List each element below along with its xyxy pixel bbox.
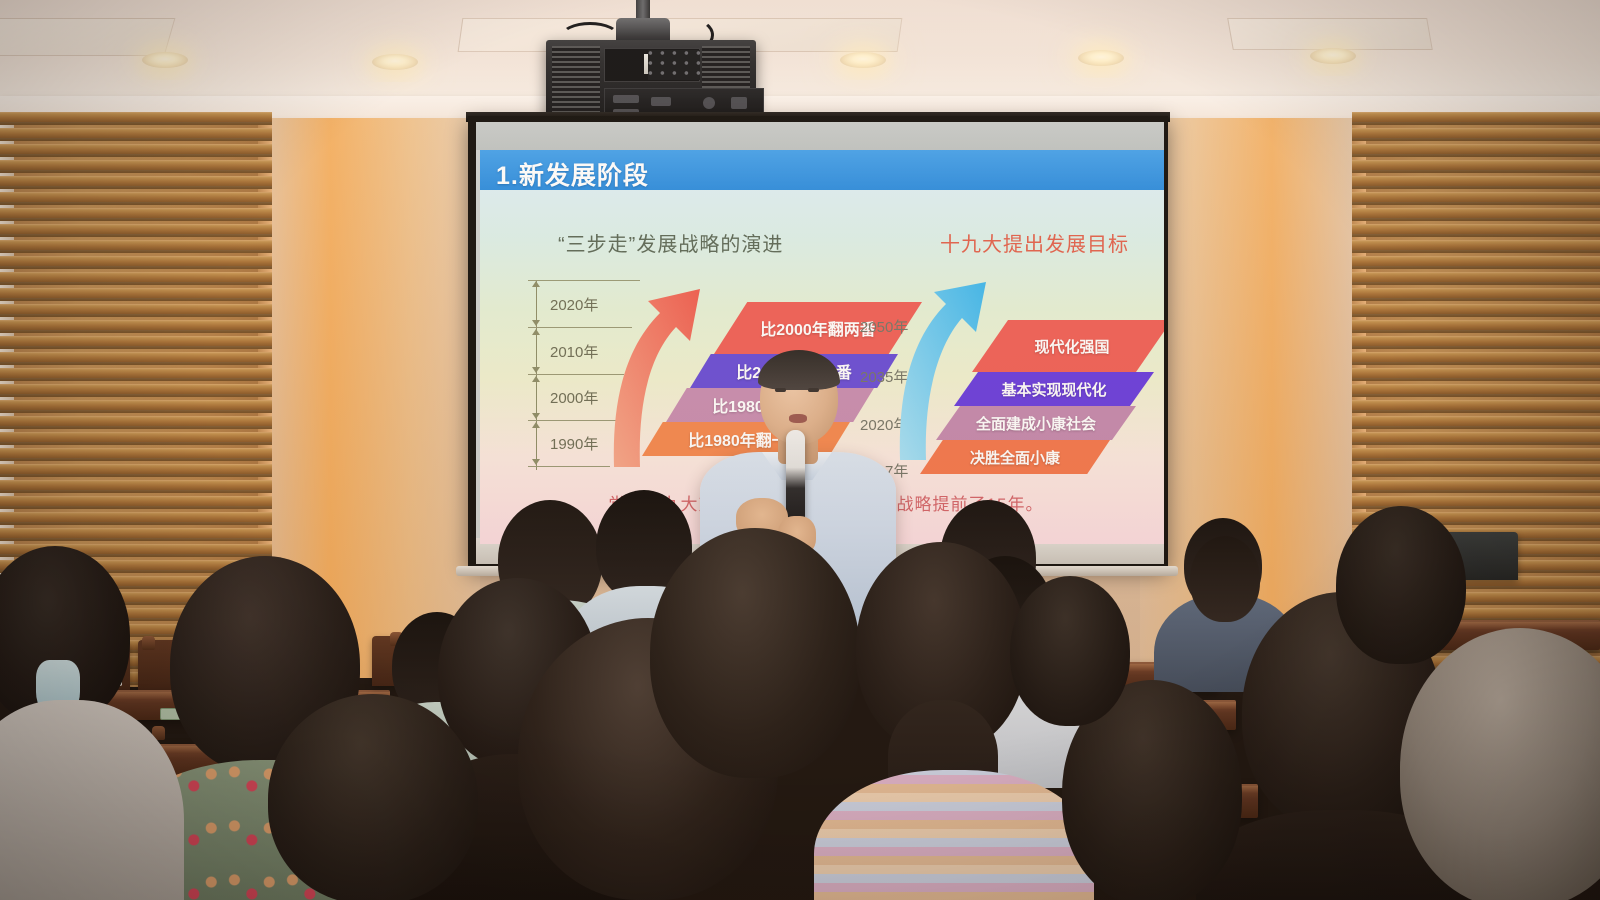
wood-slat (0, 512, 272, 525)
ceiling-downlight (1310, 48, 1356, 64)
slide-goal-block: 现代化强国 (972, 320, 1164, 372)
axis-arrow-up (532, 329, 540, 335)
wood-slat (0, 144, 272, 157)
wood-slat (0, 432, 272, 445)
wood-slat (0, 224, 272, 237)
wood-slat (1352, 240, 1600, 253)
audience-head (1010, 576, 1130, 726)
slide-right-section-title: 十九大提出发展目标 (940, 228, 1129, 257)
wood-slat (0, 304, 272, 317)
axis-year-label: 2020年 (550, 294, 598, 315)
axis-tick (528, 466, 610, 467)
wood-slat (1352, 272, 1600, 285)
wood-slat (0, 160, 272, 173)
wood-slat (1352, 160, 1600, 173)
axis-arrow-down (532, 320, 540, 326)
wood-slat (0, 208, 272, 221)
axis-arrow-down (532, 367, 540, 373)
wood-slat (0, 384, 272, 397)
projector-buttons[interactable] (648, 50, 700, 80)
slide-goal-block: 决胜全面小康 (920, 440, 1110, 474)
axis-arrow-down (532, 459, 540, 465)
wood-slat (1352, 448, 1600, 461)
lecture-hall-scene: 1.新发展阶段 “三步走”发展战略的演进 十九大提出发展目标 (0, 0, 1600, 900)
screen-blank-top (476, 122, 1164, 150)
wood-slat (1352, 304, 1600, 317)
wood-slat (1352, 112, 1600, 125)
wood-slat (0, 496, 272, 509)
audience-head (1336, 506, 1466, 664)
wood-slat (0, 128, 272, 141)
axis-arrow-down (532, 413, 540, 419)
audience-head (268, 694, 478, 900)
slide-left-section-title: “三步走”发展战略的演进 (558, 228, 783, 257)
wood-slat (0, 192, 272, 205)
audience-shoulders-knit (814, 770, 1094, 900)
lan-port[interactable] (731, 97, 747, 109)
axis-arrow-up (532, 281, 540, 287)
wood-slat (0, 368, 272, 381)
wood-slat (1352, 416, 1600, 429)
axis-tick (528, 280, 640, 281)
axis-year-label: 1990年 (550, 433, 598, 454)
axis-arrow-up (532, 376, 540, 382)
wood-slat (1352, 352, 1600, 365)
speaker-mouth (789, 414, 807, 423)
wood-slat (1352, 384, 1600, 397)
wood-slat (0, 336, 272, 349)
wood-slat (0, 528, 272, 541)
wood-slat (0, 288, 272, 301)
wood-slat (1352, 320, 1600, 333)
wood-slat (0, 480, 272, 493)
wood-slat (1352, 464, 1600, 477)
ceiling-downlight (142, 52, 188, 68)
wood-slat (1352, 432, 1600, 445)
wood-slat (1352, 224, 1600, 237)
wood-slat (1352, 480, 1600, 493)
goal-label: 全面建成小康社会 (976, 413, 1096, 434)
slide-title: 1.新发展阶段 (496, 156, 649, 192)
wood-slat (1352, 400, 1600, 413)
wood-slat (1352, 368, 1600, 381)
step-label: 比2000年翻两番 (760, 316, 876, 340)
wood-slat (1352, 208, 1600, 221)
wood-slat (0, 400, 272, 413)
axis-year-label: 2010年 (550, 341, 598, 362)
audience-head (1190, 536, 1260, 622)
wood-slat (1352, 256, 1600, 269)
audience-head (650, 528, 860, 778)
wood-slat (0, 464, 272, 477)
ceiling-downlight (1078, 50, 1124, 66)
hdmi-port[interactable] (651, 97, 671, 106)
ceiling-downlight (840, 52, 886, 68)
wood-slat (0, 176, 272, 189)
wood-slat (1352, 192, 1600, 205)
wood-slat (0, 352, 272, 365)
goal-label: 决胜全面小康 (970, 447, 1060, 468)
wood-slat (1352, 336, 1600, 349)
wood-slat (1352, 288, 1600, 301)
wood-slat (1352, 176, 1600, 189)
wood-slat (0, 272, 272, 285)
speaker-eye-right (808, 388, 819, 392)
goal-label: 现代化强国 (1034, 336, 1109, 357)
wood-slat (0, 416, 272, 429)
ceiling-downlight (372, 54, 418, 70)
wood-slat (1352, 128, 1600, 141)
audio-port[interactable] (703, 97, 715, 109)
axis-year-label: 2000年 (550, 387, 598, 408)
speaker-eye-left (775, 388, 786, 392)
wood-slat (0, 448, 272, 461)
chair-knob (142, 636, 155, 650)
vga-port[interactable] (613, 95, 639, 103)
goal-label: 基本实现现代化 (1001, 379, 1106, 400)
slide-goal-block: 全面建成小康社会 (936, 406, 1136, 440)
axis-vertical-line (536, 280, 537, 470)
slide-goal-block: 基本实现现代化 (954, 372, 1154, 406)
wood-slat (1352, 144, 1600, 157)
wood-slat (0, 240, 272, 253)
axis-arrow-up (532, 422, 540, 428)
wood-slat (0, 320, 272, 333)
wood-slat (0, 112, 272, 125)
wood-slat (0, 256, 272, 269)
